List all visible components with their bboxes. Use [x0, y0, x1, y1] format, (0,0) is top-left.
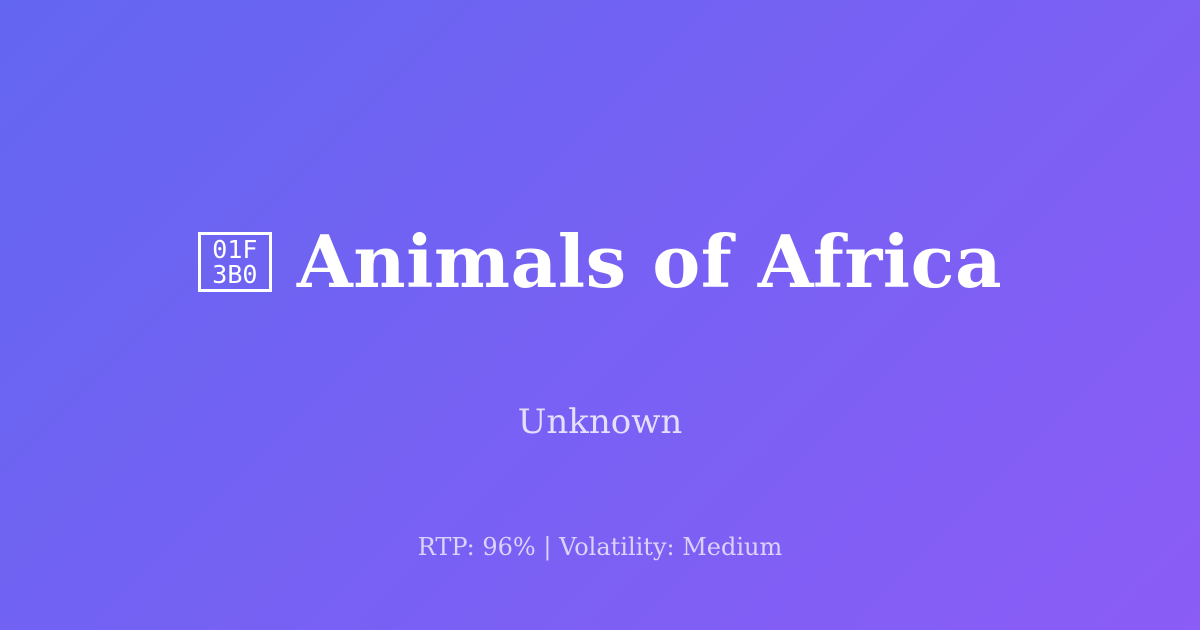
- page-title: Animals of Africa: [297, 224, 1002, 300]
- page-subtitle: Unknown: [518, 402, 683, 443]
- og-card: 01F 3B0 Animals of Africa Unknown RTP: 9…: [0, 0, 1200, 630]
- hero-block: 01F 3B0 Animals of Africa Unknown: [0, 176, 1200, 443]
- footer: RTP: 96% | Volatility: Medium: [0, 533, 1200, 562]
- slot-machine-icon: 01F 3B0: [198, 232, 272, 292]
- tofu-hex-row-top: 01F: [212, 237, 257, 262]
- tofu-hex-row-bottom: 3B0: [212, 262, 257, 287]
- game-meta-line: RTP: 96% | Volatility: Medium: [418, 533, 783, 562]
- title-row: 01F 3B0 Animals of Africa: [0, 176, 1200, 348]
